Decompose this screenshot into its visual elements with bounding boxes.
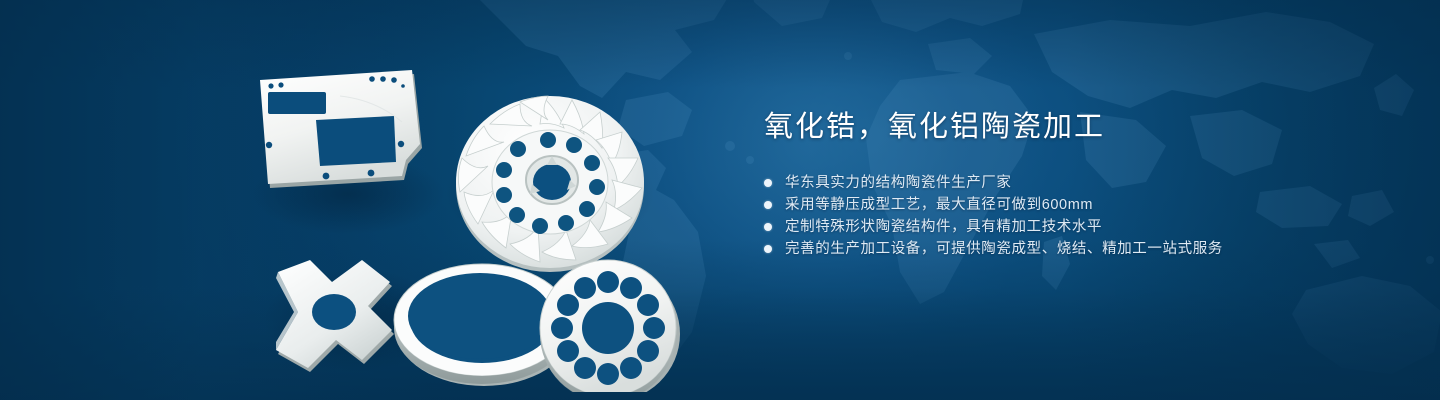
feature-text: 采用等静压成型工艺，最大直径可做到600mm <box>785 194 1093 216</box>
feature-text: 华东具实力的结构陶瓷件生产厂家 <box>785 172 1012 194</box>
feature-list: 华东具实力的结构陶瓷件生产厂家 采用等静压成型工艺，最大直径可做到600mm 定… <box>764 172 1384 260</box>
bullet-dot-icon <box>764 179 772 187</box>
bullet-dot-icon <box>764 223 772 231</box>
banner-copy: 氧化锆，氧化铝陶瓷加工 华东具实力的结构陶瓷件生产厂家 采用等静压成型工艺，最大… <box>764 108 1384 260</box>
product-image-group <box>236 52 696 392</box>
list-item: 采用等静压成型工艺，最大直径可做到600mm <box>764 194 1384 216</box>
ceramic-mounting-plate <box>260 70 422 188</box>
list-item: 华东具实力的结构陶瓷件生产厂家 <box>764 172 1384 194</box>
page-title: 氧化锆，氧化铝陶瓷加工 <box>764 108 1384 146</box>
hero-banner: 氧化锆，氧化铝陶瓷加工 华东具实力的结构陶瓷件生产厂家 采用等静压成型工艺，最大… <box>0 0 1440 400</box>
bullet-dot-icon <box>764 201 772 209</box>
bullet-dot-icon <box>764 245 772 253</box>
ceramic-perforated-disc <box>540 260 680 392</box>
list-item: 定制特殊形状陶瓷结构件，具有精加工技术水平 <box>764 216 1384 238</box>
feature-text: 完善的生产加工设备，可提供陶瓷成型、烧结、精加工一站式服务 <box>785 238 1223 260</box>
list-item: 完善的生产加工设备，可提供陶瓷成型、烧结、精加工一站式服务 <box>764 238 1384 260</box>
ceramic-impeller <box>456 96 644 272</box>
feature-text: 定制特殊形状陶瓷结构件，具有精加工技术水平 <box>785 216 1102 238</box>
